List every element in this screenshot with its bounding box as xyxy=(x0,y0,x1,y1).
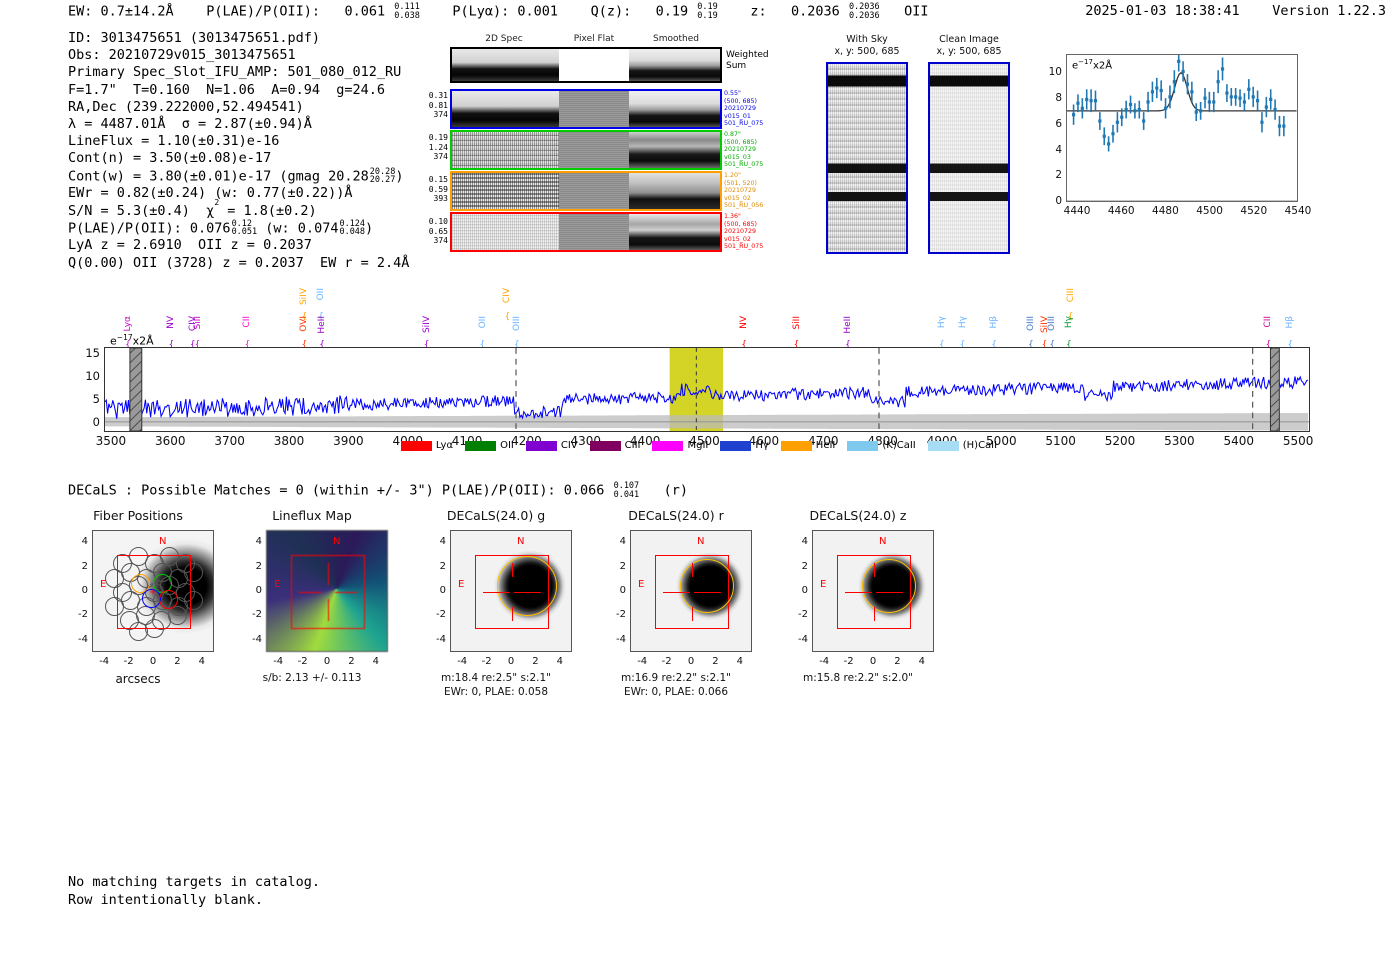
cutout-ytick: 2 xyxy=(238,561,262,572)
legend-entry: MgII xyxy=(652,440,708,451)
compass-east: E xyxy=(100,579,106,590)
cutout-ytick: 4 xyxy=(64,536,88,547)
emission-line-label: OIII xyxy=(1047,316,1057,331)
header-plae-label: P(LAE)/P(OII): xyxy=(206,4,320,20)
info-obs: Obs: 20210729v015_3013475651 xyxy=(68,47,409,64)
panel-3-right-labels: 1.20" (501, 520) 20210729 v015_02 501_RU… xyxy=(724,172,780,210)
clean-image-image xyxy=(928,62,1010,254)
legend-entry: Lyα xyxy=(401,440,453,451)
ws-pixelflat-image xyxy=(559,49,629,81)
spectrum-ytick: 0 xyxy=(72,415,100,429)
spec2d-panel-1 xyxy=(450,89,722,129)
cutout-xtick: 4 xyxy=(188,656,216,667)
crosshair-v-top xyxy=(328,563,329,585)
cutout-ytick: 0 xyxy=(64,585,88,596)
crosshair-v-top xyxy=(874,563,875,578)
crosshair-h-right xyxy=(876,592,903,593)
line-fit-xtick: 4460 xyxy=(1104,205,1138,217)
cutout-ytick: -2 xyxy=(64,609,88,620)
panel-3-left-labels: 0.15 0.59 393 xyxy=(422,175,448,204)
cutout-xtick: 4 xyxy=(908,656,936,667)
info-ewr: EWr = 0.82(±0.24) (w: 0.77(±0.22))Å xyxy=(68,185,409,202)
cutout-ytick: -2 xyxy=(784,609,808,620)
object-info-block: ID: 3013475651 (3013475651.pdf) Obs: 202… xyxy=(68,30,409,272)
cutout-panel-5: DECaLS(24.0) zNE420-2-4-4-2024m:15.8 re:… xyxy=(782,508,967,738)
info-id: ID: 3013475651 (3013475651.pdf) xyxy=(68,30,409,47)
p1-pixelflat-image xyxy=(559,91,629,127)
cutout-panel-4: DECaLS(24.0) rNE420-2-4-4-2024m:16.9 re:… xyxy=(600,508,785,738)
cutout-image xyxy=(630,530,752,652)
cutout-xlabel: arcsecs xyxy=(62,672,214,686)
emission-line-label: SiIV xyxy=(299,288,309,305)
emission-line-label: OII xyxy=(316,288,326,300)
emission-line-label: HeII xyxy=(317,316,327,334)
emission-line-label: CIV xyxy=(188,316,198,331)
info-plae: P(LAE)/P(OII): 0.0760.120.051 (w: 0.0740… xyxy=(68,220,409,238)
cutout-title: Fiber Positions xyxy=(62,508,214,523)
decals-header-errors: 0.1070.041 xyxy=(614,482,640,499)
line-fit-ytick: 8 xyxy=(1038,92,1062,104)
cutout-footer-1: m:18.4 re:2.5" s:2.1" xyxy=(420,672,572,684)
emission-line-label: OIII xyxy=(1026,316,1036,331)
legend-entry: OII xyxy=(465,440,514,451)
crosshair-h-right xyxy=(694,592,721,593)
crosshair-h-left xyxy=(299,592,321,593)
emission-line-label: OVI xyxy=(299,316,309,332)
legend-swatch xyxy=(847,441,878,451)
emission-line-label: Lyα xyxy=(123,316,133,331)
cutout-title: DECaLS(24.0) g xyxy=(420,508,572,523)
line-fit-ytick: 4 xyxy=(1038,144,1062,156)
legend-swatch xyxy=(401,441,432,451)
p2-smoothed-image xyxy=(629,132,720,168)
spectrum-ytick: 5 xyxy=(72,392,100,406)
compass-north: N xyxy=(333,536,340,547)
cutout-panel-1: Fiber Positions+NE420-2-4-4-2024arcsecs xyxy=(62,508,247,738)
cutout-footer-1: m:16.9 re:2.2" s:2.1" xyxy=(600,672,752,684)
info-redshifts: LyA z = 2.6910 OII z = 0.2037 xyxy=(68,237,409,254)
cutout-image xyxy=(266,530,388,652)
timestamp-text: 2025-01-03 18:38:41 xyxy=(1085,3,1239,19)
clean-image-title: Clean Image xyxy=(928,34,1010,46)
line-fit-ytick: 0 xyxy=(1038,195,1062,207)
cutout-xtick: 4 xyxy=(726,656,754,667)
cutout-footer-1: s/b: 2.13 +/- 0.113 xyxy=(236,672,388,684)
clean-image-subtitle: x, y: 500, 685 xyxy=(928,46,1010,58)
compass-north: N xyxy=(517,536,524,547)
emission-line-label: Hγ xyxy=(1064,316,1074,328)
info-primary-spec: Primary Spec_Slot_IFU_AMP: 501_080_012_R… xyxy=(68,64,409,81)
compass-east: E xyxy=(274,579,280,590)
cutout-image: + xyxy=(92,530,214,652)
cutout-footer-1: m:15.8 re:2.2" s:2.0" xyxy=(782,672,934,684)
p3-2dspec-image xyxy=(452,173,559,209)
cutout-footer-2: EWr: 0, PLAE: 0.058 xyxy=(420,686,572,698)
spectrum-ytick: 15 xyxy=(72,346,100,360)
legend-swatch xyxy=(526,441,557,451)
spec2d-panel-3 xyxy=(450,171,722,211)
emission-line-label: SiIV xyxy=(422,316,432,333)
emission-line-label: HeII xyxy=(843,316,853,334)
cutout-ytick: 2 xyxy=(602,561,626,572)
legend-swatch xyxy=(720,441,751,451)
line-fit-xtick: 4480 xyxy=(1148,205,1182,217)
with-sky-title: With Sky xyxy=(826,34,908,46)
emission-line-label: SiII xyxy=(792,316,802,330)
cutout-ytick: 2 xyxy=(422,561,446,572)
cutout-ytick: 0 xyxy=(238,585,262,596)
crosshair-h-left xyxy=(663,592,690,593)
clean-image-cutout: Clean Image x, y: 500, 685 xyxy=(928,34,1010,260)
cutout-title: Lineflux Map xyxy=(236,508,388,523)
info-lineflux: LineFlux = 1.10(±0.31)e-16 xyxy=(68,133,409,150)
cutout-title: DECaLS(24.0) r xyxy=(600,508,752,523)
with-sky-cutout: With Sky x, y: 500, 685 xyxy=(826,34,908,260)
emission-line-brace: { xyxy=(504,312,510,322)
spec2d-panel-group: 2D Spec Pixel Flat Smoothed Weighted Sum… xyxy=(432,34,762,256)
cutout-ytick: -4 xyxy=(238,634,262,645)
emission-line-label: Hγ xyxy=(958,316,968,328)
crosshair-v-bottom xyxy=(692,607,693,622)
line-fit-xtick: 4520 xyxy=(1237,205,1271,217)
legend-label: Lyα xyxy=(436,440,453,451)
legend-label: (H)CaII xyxy=(963,440,997,451)
cutout-image xyxy=(812,530,934,652)
emission-line-label: NV xyxy=(166,316,176,329)
decals-header: DECaLS : Possible Matches = 0 (within +/… xyxy=(68,482,688,499)
line-fit-xtick: 4540 xyxy=(1281,205,1315,217)
emission-line-label: CIV xyxy=(502,288,512,303)
emission-line-label: CII xyxy=(242,316,252,328)
header-plae-value: 0.061 xyxy=(344,4,385,20)
cutout-xtick: 4 xyxy=(546,656,574,667)
legend-label: MgII xyxy=(687,440,708,451)
line-fit-ytick: 10 xyxy=(1038,66,1062,78)
line-fit-plot-area xyxy=(1066,54,1298,202)
spectrum-ytick: 10 xyxy=(72,369,100,383)
legend-label: HeII xyxy=(816,440,836,451)
full-spectrum-chart: Lyα{NV{SiII{CIV{CII{SiIV{OII{OVI{HeII{Si… xyxy=(88,288,1310,458)
p4-smoothed-image xyxy=(629,214,720,250)
col-header-smoothed: Smoothed xyxy=(630,34,722,44)
header-plya: P(Lyα): 0.001 xyxy=(452,4,558,20)
info-sn-chi: S/N = 5.3(±0.4) χ2 = 1.8(±0.2) xyxy=(68,203,409,220)
cutout-ytick: 2 xyxy=(64,561,88,572)
with-sky-image xyxy=(826,62,908,254)
emission-line-label: OII xyxy=(478,316,488,328)
compass-north: N xyxy=(697,536,704,547)
cutout-image xyxy=(450,530,572,652)
line-fit-xtick: 4440 xyxy=(1060,205,1094,217)
timestamp-version: 2025-01-03 18:38:41 Version 1.22.3 xyxy=(1085,3,1386,19)
p4-2dspec-image xyxy=(452,214,559,250)
cutout-ytick: 0 xyxy=(422,585,446,596)
cutout-panel-2: Lineflux MapNE420-2-4-4-2024s/b: 2.13 +/… xyxy=(236,508,421,738)
p3-pixelflat-image xyxy=(559,173,629,209)
legend-swatch xyxy=(590,441,621,451)
info-cont-n: Cont(n) = 3.50(±0.08)e-17 xyxy=(68,150,409,167)
header-classification: OII xyxy=(904,4,928,20)
info-seeing: F=1.7" T=0.160 N=1.06 A=0.94 g=24.6 xyxy=(68,82,409,99)
cutout-footer-2: EWr: 0, PLAE: 0.066 xyxy=(600,686,752,698)
info-lambda-sigma: λ = 4487.01Å σ = 2.87(±0.94)Å xyxy=(68,116,409,133)
compass-east: E xyxy=(638,579,644,590)
footer-message: No matching targets in catalog. Row inte… xyxy=(68,873,320,909)
panel-2-left-labels: 0.19 1.24 374 xyxy=(422,133,448,162)
line-fit-unit-label: e−17x2Å xyxy=(1072,58,1112,71)
line-fit-chart: e−17x2Å 0246810 444044604480450045204540 xyxy=(1034,46,1302,214)
cutout-ytick: 0 xyxy=(784,585,808,596)
legend-entry: (H)CaII xyxy=(928,440,997,451)
legend-entry: CIII xyxy=(590,440,641,451)
cutout-ytick: -4 xyxy=(784,634,808,645)
p1-smoothed-image xyxy=(629,91,720,127)
header-qz-errors: 0.190.19 xyxy=(697,3,717,20)
panel-2-right-labels: 0.87" (500, 685) 20210729 v015_03 501_RU… xyxy=(724,131,780,169)
spectrum-unit-label: e−17x2Å xyxy=(110,333,154,348)
crosshair-h-left xyxy=(845,592,872,593)
p4-pixelflat-image xyxy=(559,214,629,250)
legend-entry: Hγ xyxy=(720,440,768,451)
footer-line-2: Row intentionally blank. xyxy=(68,891,320,909)
compass-north: N xyxy=(159,536,166,547)
legend-label: Hγ xyxy=(755,440,768,451)
emission-line-label: CII xyxy=(1263,316,1273,328)
cutout-ytick: 2 xyxy=(784,561,808,572)
panel-4-left-labels: 0.10 0.65 374 xyxy=(422,217,448,246)
cutout-ytick: -4 xyxy=(422,634,446,645)
header-z-errors: 0.20360.2036 xyxy=(849,3,880,20)
compass-east: E xyxy=(820,579,826,590)
crosshair-h-right xyxy=(514,592,541,593)
cutout-title: DECaLS(24.0) z xyxy=(782,508,934,523)
cutout-panel-3: DECaLS(24.0) gNE420-2-4-4-2024m:18.4 re:… xyxy=(420,508,605,738)
emission-line-label: Hβ xyxy=(989,316,999,329)
legend-label: CIV xyxy=(561,440,578,451)
header-qz-label: Q(z): xyxy=(591,4,632,20)
panel-1-right-labels: 0.55" (500, 685) 20210729 v015_01 501_RU… xyxy=(724,90,780,128)
legend-entry: CIV xyxy=(526,440,578,451)
cutout-ytick: 4 xyxy=(602,536,626,547)
decals-header-pre: DECaLS : Possible Matches = 0 (within +/… xyxy=(68,483,604,499)
col-header-pixelflat: Pixel Flat xyxy=(558,34,630,44)
p3-smoothed-image xyxy=(629,173,720,209)
version-text: Version 1.22.3 xyxy=(1272,3,1386,19)
line-fit-xtick: 4500 xyxy=(1193,205,1227,217)
crosshair-h-right xyxy=(335,592,357,593)
crosshair-v-bottom xyxy=(328,599,329,621)
cutout-ytick: -4 xyxy=(602,634,626,645)
info-radec: RA,Dec (239.222000,52.494541) xyxy=(68,99,409,116)
ws-2dspec-image xyxy=(452,49,559,81)
weighted-sum-panel xyxy=(450,47,722,83)
spec2d-panel-4 xyxy=(450,212,722,252)
ws-smoothed-image xyxy=(629,49,720,81)
cutout-ytick: 0 xyxy=(602,585,626,596)
panel-1-left-labels: 0.31 0.81 374 xyxy=(422,91,448,120)
p1-2dspec-image xyxy=(452,91,559,127)
header-z-value: 0.2036 xyxy=(791,4,840,20)
p2-pixelflat-image xyxy=(559,132,629,168)
line-fit-ytick: 2 xyxy=(1038,169,1062,181)
spectrum-legend: LyαOIICIVCIIIMgIIHγHeII(K)CaII(H)CaII xyxy=(88,440,1310,451)
line-fit-svg xyxy=(1067,55,1297,201)
cutout-ytick: -2 xyxy=(238,609,262,620)
header-z-label: z: xyxy=(750,4,766,20)
header-plae-errors: 0.1110.038 xyxy=(394,3,420,20)
legend-swatch xyxy=(781,441,812,451)
aperture-circle xyxy=(862,559,916,613)
legend-swatch xyxy=(928,441,959,451)
legend-label: OII xyxy=(500,440,514,451)
spec2d-panel-2 xyxy=(450,130,722,170)
with-sky-subtitle: x, y: 500, 685 xyxy=(826,46,908,58)
cutout-ytick: 4 xyxy=(238,536,262,547)
legend-label: CIII xyxy=(625,440,641,451)
footer-line-1: No matching targets in catalog. xyxy=(68,873,320,891)
compass-north: N xyxy=(879,536,886,547)
decals-header-post: (r) xyxy=(664,483,688,499)
legend-entry: HeII xyxy=(781,440,836,451)
aperture-circle xyxy=(497,556,557,616)
crosshair-v-bottom xyxy=(512,607,513,622)
legend-label: (K)CaII xyxy=(882,440,915,451)
legend-entry: (K)CaII xyxy=(847,440,915,451)
crosshair-v-top xyxy=(692,563,693,578)
emission-line-label: CIII xyxy=(1066,288,1076,302)
p2-2dspec-image xyxy=(452,132,559,168)
emission-line-label: Hβ xyxy=(1285,316,1295,329)
spectrum-svg xyxy=(105,348,1309,431)
legend-swatch xyxy=(465,441,496,451)
crosshair-h-left xyxy=(483,592,510,593)
header-ew: EW: 0.7±14.2Å xyxy=(68,4,174,20)
cutout-ytick: -2 xyxy=(422,609,446,620)
cutout-xtick: 4 xyxy=(362,656,390,667)
emission-line-label: OIII xyxy=(512,316,522,331)
aperture-circle xyxy=(680,559,734,613)
header-qz-value: 0.19 xyxy=(656,4,689,20)
compass-east: E xyxy=(458,579,464,590)
line-fit-ytick: 6 xyxy=(1038,118,1062,130)
cutout-ytick: -2 xyxy=(602,609,626,620)
weighted-sum-label: Weighted Sum xyxy=(726,50,769,71)
cutout-ytick: 4 xyxy=(784,536,808,547)
legend-swatch xyxy=(652,441,683,451)
panel-4-right-labels: 1.36" (500, 685) 20210729 v015_02 501_RU… xyxy=(724,213,780,251)
center-cross: + xyxy=(150,587,156,598)
crosshair-v-bottom xyxy=(874,607,875,622)
header-summary: EW: 0.7±14.2Å P(LAE)/P(OII): 0.061 0.111… xyxy=(68,3,928,20)
cutout-ytick: 4 xyxy=(422,536,446,547)
crosshair-v-top xyxy=(512,563,513,578)
info-quality: Q(0.00) OII (3728) z = 0.2037 EW r = 2.4… xyxy=(68,255,409,272)
info-cont-w: Cont(w) = 3.80(±0.01)e-17 (gmag 20.2820.… xyxy=(68,168,409,186)
col-header-2dspec: 2D Spec xyxy=(450,34,558,44)
emission-line-label: Hγ xyxy=(937,316,947,328)
cutout-ytick: -4 xyxy=(64,634,88,645)
emission-line-label: NV xyxy=(739,316,749,329)
spectrum-plot-area xyxy=(104,347,1310,432)
